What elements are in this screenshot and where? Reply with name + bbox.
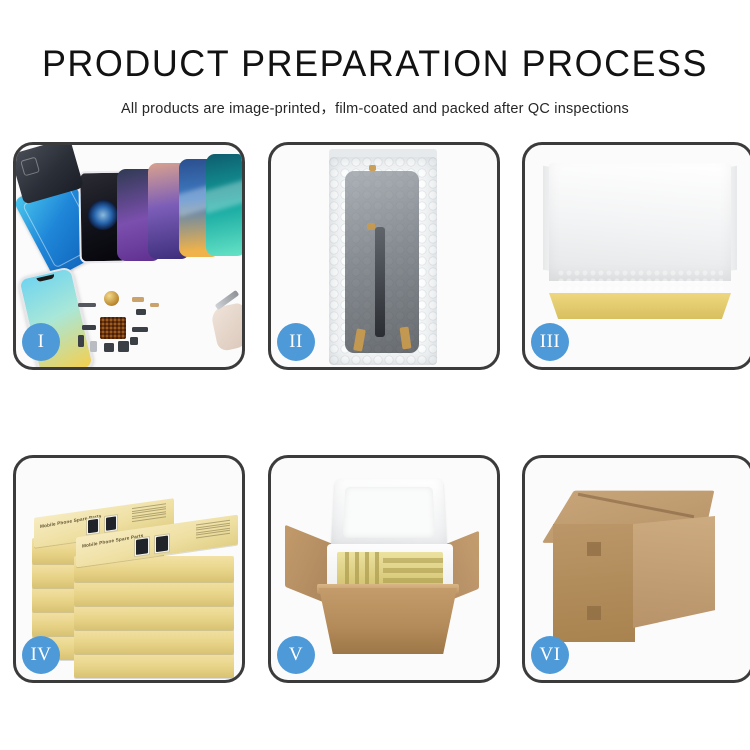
- step-3-image: III: [525, 145, 750, 367]
- spare-part: [90, 341, 97, 352]
- bubble-wrap-bag: [329, 157, 437, 365]
- step-badge-4: IV: [22, 636, 60, 674]
- step-panel-2: II: [268, 142, 500, 370]
- step-panel-3: III: [522, 142, 750, 370]
- page-title: PRODUCT PREPARATION PROCESS: [11, 45, 739, 82]
- spare-part: [130, 337, 138, 345]
- spare-part: [150, 303, 159, 307]
- steps-grid: I II: [13, 142, 746, 684]
- phone-screen-teal: [206, 154, 245, 256]
- step-badge-5: V: [277, 636, 315, 674]
- spare-part: [132, 327, 148, 332]
- carton-tape-patch: [587, 542, 601, 556]
- step-6-image: VI: [525, 458, 750, 680]
- box-window: [134, 536, 150, 557]
- vibration-motor-part: [104, 291, 119, 306]
- step-2-image: II: [271, 145, 497, 367]
- white-box-lid: [549, 163, 731, 281]
- box-window: [104, 514, 118, 533]
- box-spec-lines: [196, 520, 230, 541]
- retail-box: [74, 628, 234, 654]
- spare-part: [118, 341, 129, 352]
- carton-front-wall: [319, 588, 457, 654]
- spare-part: [104, 343, 114, 352]
- box-window: [154, 533, 170, 554]
- retail-box-stack: Mobile Phone Spare Parts Mobile Phone Sp…: [32, 484, 232, 670]
- gold-connector: [367, 223, 375, 230]
- step-badge-1: I: [22, 323, 60, 361]
- step-panel-6: VI: [522, 455, 750, 683]
- page-subtitle: All products are image-printed，film-coat…: [0, 97, 750, 118]
- step-1-image: I: [16, 145, 242, 367]
- bubble-wrap-contents: [557, 269, 723, 297]
- spare-part: [78, 303, 96, 307]
- spare-part: [82, 325, 96, 330]
- carton-tape-patch: [587, 606, 601, 620]
- kraft-box-front: [549, 293, 731, 319]
- technician-hand: [210, 302, 245, 352]
- step-badge-3: III: [531, 323, 569, 361]
- product-preparation-infographic: PRODUCT PREPARATION PROCESS All products…: [0, 0, 750, 750]
- box-spec-lines: [132, 503, 166, 524]
- foam-box-lid: [331, 479, 448, 550]
- step-panel-4: Mobile Phone Spare Parts Mobile Phone Sp…: [13, 455, 245, 683]
- step-5-image: V: [271, 458, 497, 680]
- retail-box: [74, 580, 234, 606]
- carton-right-face: [633, 516, 715, 628]
- phone-notch: [36, 274, 54, 282]
- step-4-image: Mobile Phone Spare Parts Mobile Phone Sp…: [16, 458, 242, 680]
- connector-chip-array: [100, 317, 126, 339]
- flex-cable: [375, 227, 385, 337]
- header: PRODUCT PREPARATION PROCESS All products…: [0, 0, 750, 118]
- spare-part: [132, 297, 144, 302]
- box-window: [86, 517, 100, 536]
- step-panel-1: I: [13, 142, 245, 370]
- spare-part: [78, 335, 84, 347]
- retail-box: [74, 652, 234, 678]
- step-panel-5: V: [268, 455, 500, 683]
- gold-connector: [369, 165, 376, 171]
- spare-part: [136, 309, 146, 315]
- retail-box: [74, 604, 234, 630]
- step-badge-2: II: [277, 323, 315, 361]
- step-badge-6: VI: [531, 636, 569, 674]
